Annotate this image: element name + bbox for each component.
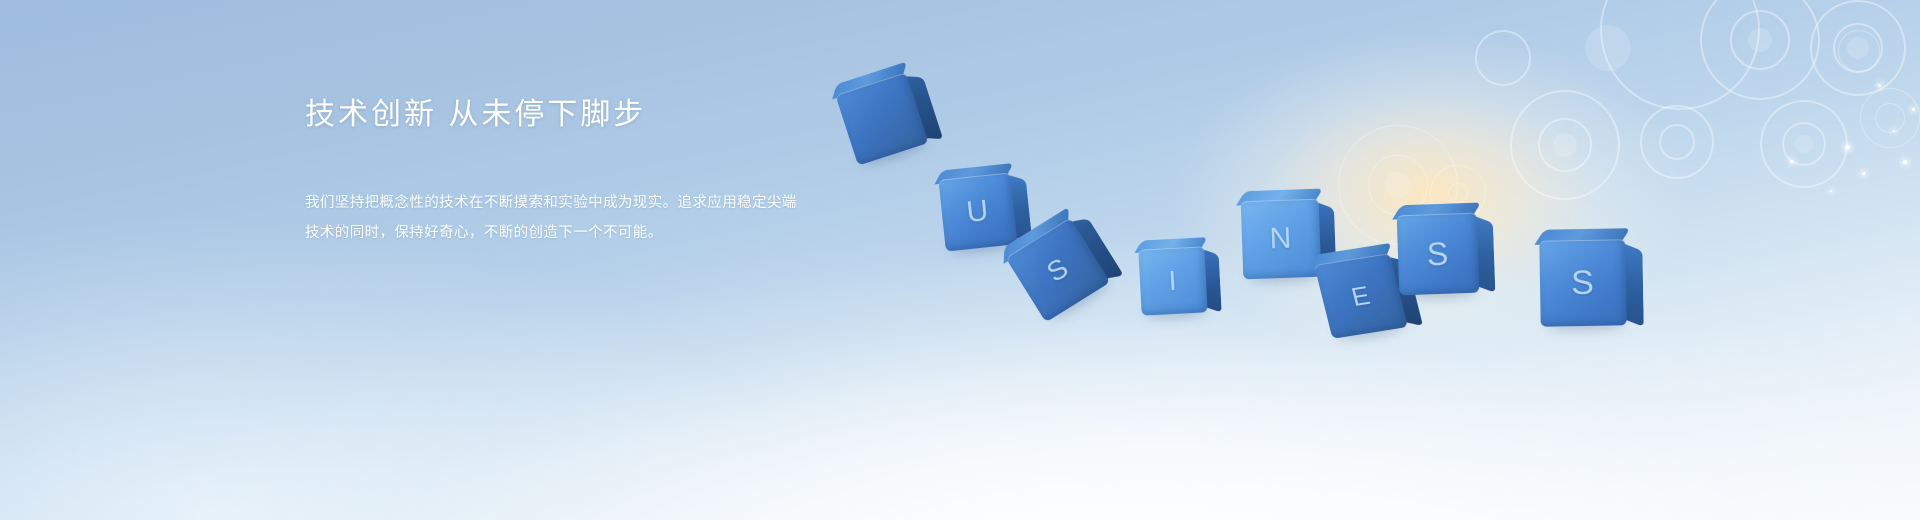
- keycap-side-face: [1624, 243, 1644, 326]
- keycap-e: E: [1314, 253, 1408, 339]
- keycap-i: I: [1138, 246, 1207, 315]
- hero-banner: 技术创新 从未停下脚步 我们坚持把概念性的技术在不断摸索和实验中成为现实。追求应…: [0, 0, 1920, 520]
- ring-icon: [1760, 100, 1848, 188]
- ring-icon: [1385, 172, 1411, 198]
- sparkle-group: [0, 0, 1920, 520]
- keycap-top: [1397, 213, 1480, 296]
- keycap-top: [1241, 199, 1322, 280]
- keycap-n: N: [1241, 199, 1322, 280]
- ring-icon: [1585, 25, 1631, 71]
- keycap-top: [1006, 218, 1111, 323]
- sparkle-icon: [1878, 84, 1881, 87]
- keycap-side-face: [905, 76, 943, 139]
- keycap-letter: E: [1314, 253, 1408, 339]
- sparkle-icon: [1845, 145, 1850, 150]
- ring-icon: [1833, 23, 1883, 73]
- keycap-side-face: [1475, 216, 1495, 293]
- sparkle-icon: [1790, 160, 1793, 163]
- keycap-body: S: [1006, 218, 1111, 323]
- banner-subtitle: 我们坚持把概念性的技术在不断摸索和实验中成为现实。追求应用稳定尖端 技术的同时，…: [305, 188, 797, 248]
- sparkle-icon: [1903, 160, 1907, 164]
- keycap-side-face: [1071, 218, 1124, 278]
- keycap-top-face: [1310, 243, 1391, 270]
- ring-icon: [1659, 124, 1695, 160]
- ring-icon: [1795, 135, 1813, 153]
- ring-icon: [1810, 0, 1906, 96]
- sparkle-icon: [1830, 190, 1832, 192]
- keycap-shadow: [949, 236, 1016, 254]
- ring-icon: [1338, 125, 1458, 245]
- keycap-shadow: [1546, 315, 1625, 330]
- ring-icon: [1600, 0, 1760, 110]
- keycap-top: [938, 172, 1017, 251]
- ring-icon: [1368, 155, 1428, 215]
- keycap-top-face: [1134, 238, 1207, 254]
- ring-icon: [1475, 30, 1531, 86]
- keycap-body: S: [1539, 239, 1626, 326]
- keycap-side-face: [1009, 176, 1032, 244]
- ring-icon: [1748, 28, 1772, 52]
- keycap-b: [835, 72, 928, 165]
- keycap-body: N: [1241, 199, 1322, 280]
- keycap-body: E: [1314, 253, 1408, 339]
- keycap-top-face: [1004, 207, 1069, 264]
- keycap-letter: [835, 72, 928, 165]
- sparkle-icon: [1893, 130, 1895, 132]
- keycap-shadow: [1335, 318, 1407, 341]
- ring-icon: [1430, 165, 1486, 221]
- keycap-top: [1539, 239, 1626, 326]
- keycap-shadow: [860, 135, 928, 167]
- keycap-top-face: [934, 163, 1013, 184]
- keycap-top-face: [1392, 202, 1481, 220]
- subtitle-line-1: 我们坚持把概念性的技术在不断摸索和实验中成为现实。追求应用稳定尖端: [305, 188, 797, 218]
- keycap-top: [835, 72, 928, 165]
- ring-icon: [1640, 105, 1714, 179]
- keycap-letter: U: [938, 172, 1017, 251]
- keycap-s2: S: [1397, 213, 1480, 296]
- keycap-side-face: [1203, 249, 1221, 312]
- keycap-shadow: [1145, 304, 1206, 318]
- ring-icon: [1448, 183, 1468, 203]
- keycap-body: [835, 72, 928, 165]
- ring-icon: [1875, 103, 1905, 133]
- keycap-group: U S I: [0, 0, 1920, 520]
- keycap-shadow: [1248, 267, 1320, 282]
- ring-icon: [1860, 88, 1920, 148]
- keycap-side-face: [1317, 202, 1337, 277]
- sparkle-icon: [1862, 172, 1865, 175]
- keycap-top: [1314, 253, 1408, 339]
- sparkle-icon: [1912, 108, 1915, 111]
- keycap-letter: S: [1397, 213, 1480, 296]
- keycap-top-face: [1534, 228, 1630, 245]
- keycap-letter: S: [1539, 239, 1626, 326]
- ring-icon: [1700, 0, 1820, 100]
- keycap-body: I: [1138, 246, 1207, 315]
- keycap-letter: I: [1138, 246, 1207, 315]
- keycap-s3: S: [1539, 239, 1626, 326]
- keycap-shadow: [1045, 275, 1111, 322]
- subtitle-line-2: 技术的同时，保持好奇心，不断的创造下一个不可能。: [305, 218, 797, 248]
- keycap-letter: N: [1241, 199, 1322, 280]
- decorative-rings: [0, 0, 1920, 520]
- keycap-top: [1138, 246, 1207, 315]
- keycap-s1: S: [1006, 218, 1111, 323]
- keycap-body: S: [1397, 213, 1480, 296]
- ring-icon: [1838, 30, 1880, 72]
- keycap-top-face: [1236, 188, 1323, 205]
- keycap-side-face: [1389, 257, 1423, 326]
- ring-icon: [1538, 118, 1592, 172]
- banner-copy: 技术创新 从未停下脚步 我们坚持把概念性的技术在不断摸索和实验中成为现实。追求应…: [305, 95, 797, 248]
- ring-icon: [1730, 10, 1790, 70]
- keycap-body: U: [938, 172, 1017, 251]
- ring-icon: [1847, 37, 1869, 59]
- keycap-top-face: [832, 62, 907, 100]
- page-title: 技术创新 从未停下脚步: [305, 95, 797, 134]
- keycap-letter: S: [1006, 218, 1111, 323]
- keycap-u: U: [938, 172, 1017, 251]
- ring-icon: [1782, 122, 1826, 166]
- ring-icon: [1510, 90, 1620, 200]
- ring-icon: [1553, 133, 1577, 157]
- keycap-shadow: [1404, 283, 1478, 298]
